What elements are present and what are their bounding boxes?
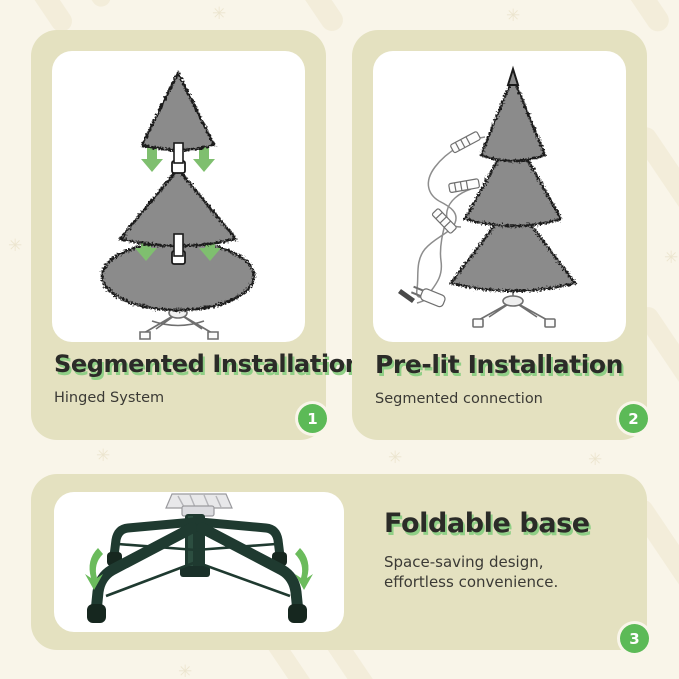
panel-subtitle: Segmented connection <box>375 390 635 410</box>
prelit-tree-illustration <box>373 51 626 342</box>
panel-title: Foldable base <box>384 508 634 539</box>
step-badge-2: 2 <box>619 404 648 433</box>
panel-1-text-block: Segmented Installation Hinged System <box>54 350 314 409</box>
power-plug-icon <box>410 284 446 308</box>
foldable-base-illustration <box>54 492 344 632</box>
panel-3-text-block: Foldable base Space-saving design, effor… <box>384 508 634 593</box>
feature-panel-prelit-installation: Pre-lit Installation Segmented connectio… <box>352 30 647 440</box>
illustration-card-segmented-tree <box>52 51 305 342</box>
panel-subtitle: Space-saving design, effortless convenie… <box>384 552 634 593</box>
tree-section-middle <box>120 161 236 256</box>
panel-subtitle: Hinged System <box>54 389 314 409</box>
illustration-card-prelit-tree <box>373 51 626 342</box>
feature-panel-foldable-base: Foldable base Space-saving design, effor… <box>31 474 647 650</box>
segmented-tree-illustration <box>52 51 305 342</box>
illustration-card-foldable-base <box>54 492 344 632</box>
step-badge-3: 3 <box>620 624 649 653</box>
panel-title: Segmented Installation <box>54 350 314 378</box>
center-bolt <box>166 494 232 516</box>
step-badge-1: 1 <box>298 404 327 433</box>
feature-panel-segmented-installation: Segmented Installation Hinged System 1 <box>31 30 326 440</box>
front-leg-feet <box>87 604 307 623</box>
panel-2-text-block: Pre-lit Installation Segmented connectio… <box>375 350 635 410</box>
panel-title: Pre-lit Installation <box>375 350 635 379</box>
